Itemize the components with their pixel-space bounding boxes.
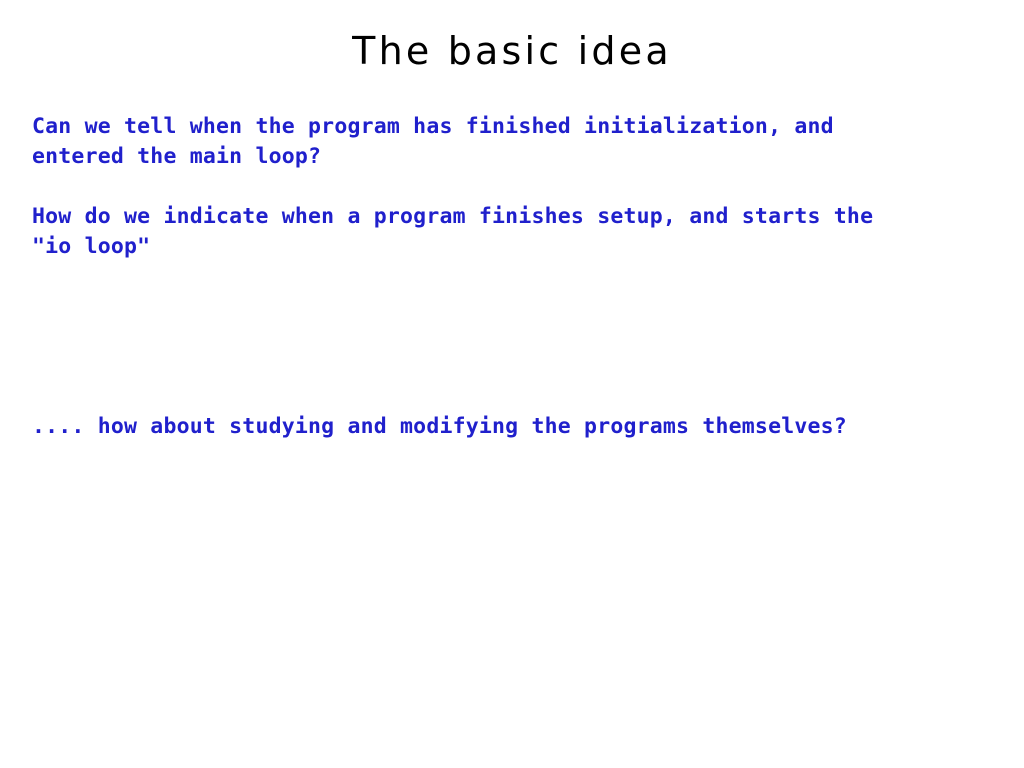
slide-body: Can we tell when the program has finishe…	[32, 112, 992, 442]
slide-canvas: The basic idea Can we tell when the prog…	[0, 0, 1024, 768]
paragraph-question-io-loop: How do we indicate when a program finish…	[32, 202, 992, 262]
paragraph-proposal-study-programs: .... how about studying and modifying th…	[32, 412, 992, 442]
page-title: The basic idea	[0, 28, 1024, 74]
paragraph-question-initialization: Can we tell when the program has finishe…	[32, 112, 992, 172]
